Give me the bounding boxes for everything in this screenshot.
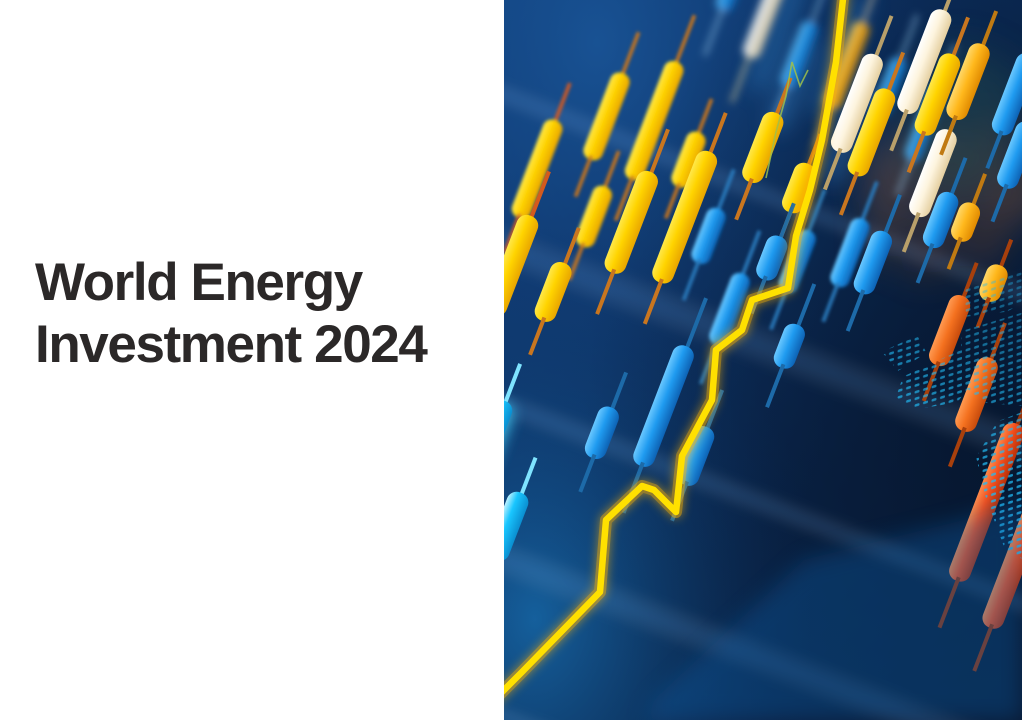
cover-artwork — [504, 0, 1022, 720]
report-cover: World Energy Investment 2024 — [0, 0, 1022, 720]
title-line-1: World Energy — [35, 252, 495, 314]
title-line-2: Investment 2024 — [35, 314, 495, 376]
candlestick-chart-illustration — [504, 0, 1022, 720]
title-panel: World Energy Investment 2024 — [0, 0, 504, 720]
page-title: World Energy Investment 2024 — [35, 252, 495, 376]
